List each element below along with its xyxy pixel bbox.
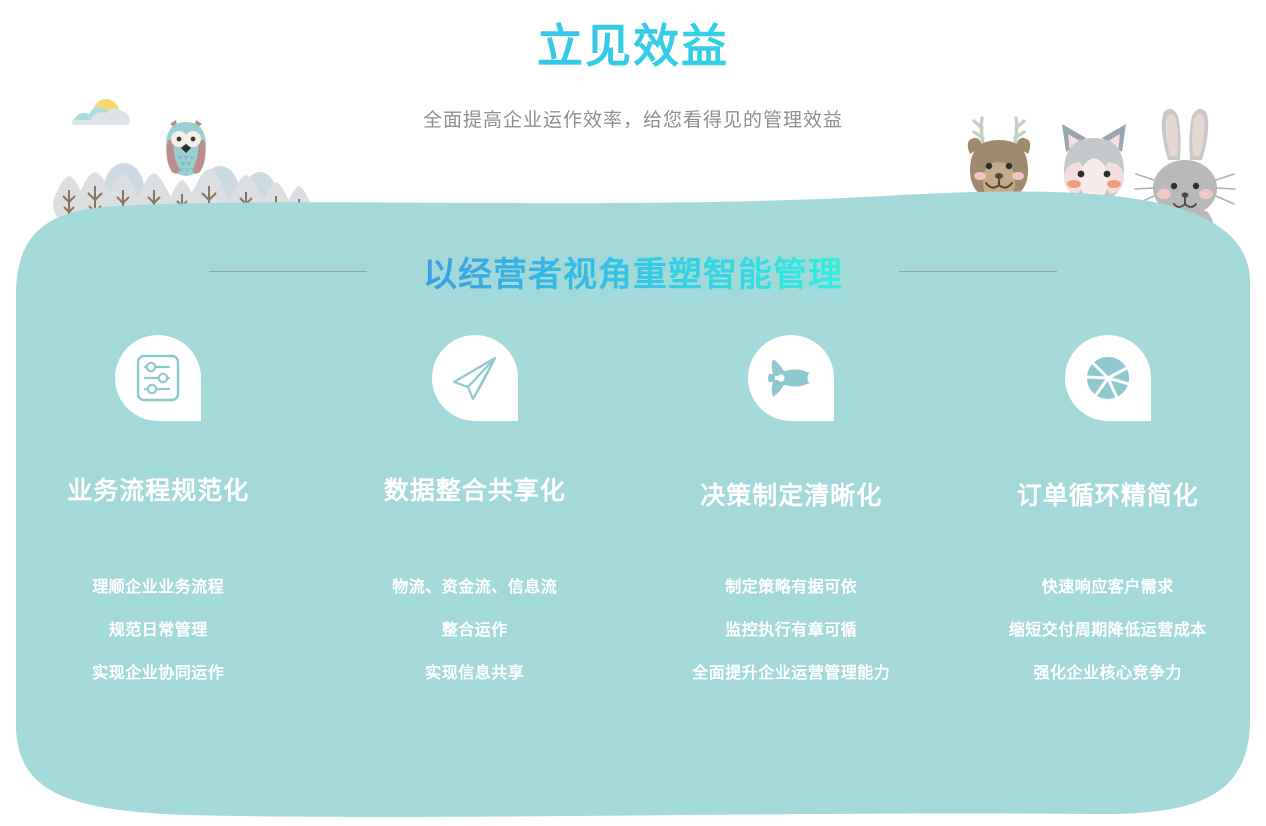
- feature-line: 快速响应客户需求: [1042, 573, 1174, 597]
- feature-title: 订单循环精简化: [1017, 476, 1199, 512]
- feature-panel-content: 以经营者视角重塑智能管理 业务流程规范化: [0, 185, 1266, 826]
- feature-line: 全面提升企业运营管理能力: [692, 659, 890, 683]
- feature-line: 实现信息共享: [425, 659, 524, 683]
- feature-card-order-cycle[interactable]: 订单循环精简化 快速响应客户需求 缩短交付周期降低运营成本 强化企业核心竞争力: [950, 335, 1266, 683]
- section-heading: 以经营者视角重塑智能管理: [0, 247, 1266, 296]
- feature-list: 业务流程规范化 理顺企业业务流程 规范日常管理 实现企业协同运作: [0, 335, 1266, 683]
- feature-line: 强化企业核心竞争力: [1033, 659, 1182, 683]
- feature-line: 物流、资金流、信息流: [392, 573, 557, 597]
- space-shuttle-icon: [763, 355, 819, 401]
- divider-line-left: [209, 271, 367, 272]
- feature-description-list: 制定策略有据可依 监控执行有章可循 全面提升企业运营管理能力: [692, 573, 890, 683]
- feature-title: 决策制定清晰化: [700, 476, 882, 512]
- feature-title: 数据整合共享化: [384, 471, 566, 507]
- divider-line-right: [899, 271, 1057, 272]
- feature-line: 整合运作: [442, 616, 508, 640]
- feature-icon-wrapper: [1065, 335, 1151, 421]
- feature-description-list: 理顺企业业务流程 规范日常管理 实现企业协同运作: [92, 573, 224, 683]
- feature-description-list: 物流、资金流、信息流 整合运作 实现信息共享: [392, 573, 557, 683]
- paper-plane-icon: [448, 351, 502, 405]
- page-subtitle: 全面提高企业运作效率，给您看得见的管理效益: [0, 105, 1266, 132]
- page-title: 立见效益: [0, 10, 1266, 76]
- feature-line: 理顺企业业务流程: [92, 573, 224, 597]
- section-title: 以经营者视角重塑智能管理: [423, 247, 843, 296]
- feature-icon-wrapper: [432, 335, 518, 421]
- feature-description-list: 快速响应客户需求 缩短交付周期降低运营成本 强化企业核心竞争力: [1009, 573, 1207, 683]
- feature-card-business-process[interactable]: 业务流程规范化 理顺企业业务流程 规范日常管理 实现企业协同运作: [0, 335, 317, 683]
- feature-line: 规范日常管理: [109, 616, 208, 640]
- feature-card-data-integration[interactable]: 数据整合共享化 物流、资金流、信息流 整合运作 实现信息共享: [317, 335, 634, 683]
- page-root: 立见效益 全面提高企业运作效率，给您看得见的管理效益: [0, 0, 1266, 826]
- aperture-icon: [1081, 351, 1135, 405]
- feature-line: 缩短交付周期降低运营成本: [1009, 616, 1207, 640]
- feature-line: 制定策略有据可依: [725, 573, 857, 597]
- feature-icon-wrapper: [748, 335, 834, 421]
- feature-line: 监控执行有章可循: [725, 616, 857, 640]
- feature-card-decision-making[interactable]: 决策制定清晰化 制定策略有据可依 监控执行有章可循 全面提升企业运营管理能力: [633, 335, 950, 683]
- feature-line: 实现企业协同运作: [92, 659, 224, 683]
- feature-title: 业务流程规范化: [67, 471, 249, 507]
- sliders-icon: [132, 352, 184, 404]
- feature-icon-wrapper: [115, 335, 201, 421]
